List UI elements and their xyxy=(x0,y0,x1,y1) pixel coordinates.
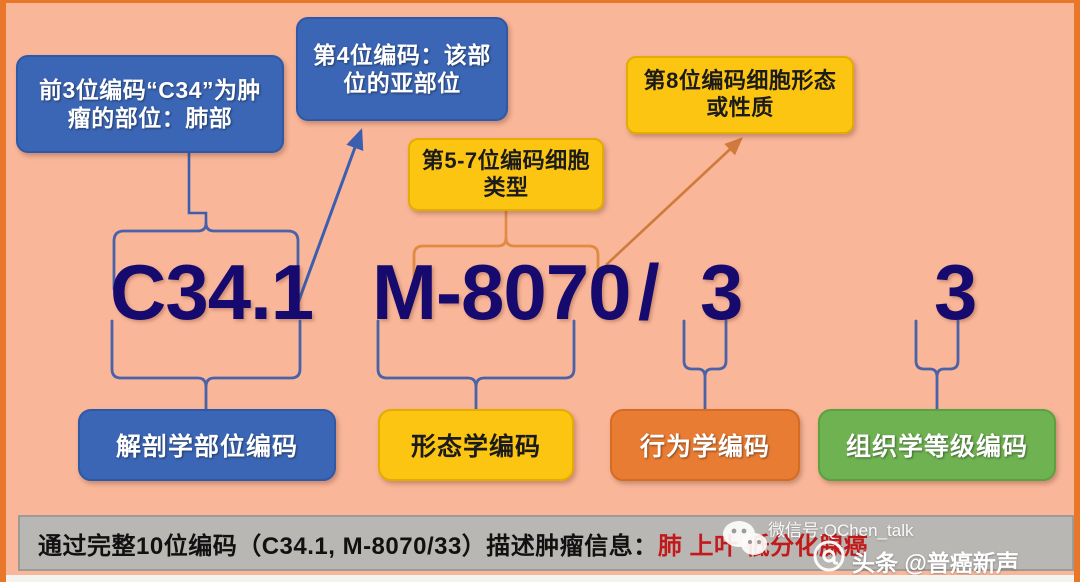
callout-site-3digit[interactable]: 前3位编码“C34”为肿瘤的部位：肺部 xyxy=(16,55,284,153)
bottom-strip xyxy=(6,575,1080,582)
diagram-canvas: 前3位编码“C34”为肿瘤的部位：肺部 第4位编码：该部位的亚部位 第5-7位编… xyxy=(0,0,1080,582)
callout-cell-type-5-7-label: 第5-7位编码细胞类型 xyxy=(420,148,592,202)
bottom-box-behavior[interactable]: 行为学编码 xyxy=(610,409,800,481)
bottom-box-grade-label: 组织学等级编码 xyxy=(846,427,1028,463)
code-grade: 3 xyxy=(934,253,976,331)
bottom-box-morphology[interactable]: 形态学编码 xyxy=(378,409,574,481)
callout-cell-type-5-7[interactable]: 第5-7位编码细胞类型 xyxy=(408,138,604,211)
bottom-box-behavior-label: 行为学编码 xyxy=(640,427,770,463)
callout-sub-site-4th[interactable]: 第4位编码：该部位的亚部位 xyxy=(296,17,508,121)
bottom-box-grade[interactable]: 组织学等级编码 xyxy=(818,409,1056,481)
watermark-toutiao: 头条 @普癌新声 xyxy=(852,544,1019,578)
at-sign-icon xyxy=(812,539,846,573)
bottom-box-anatomy[interactable]: 解剖学部位编码 xyxy=(78,409,336,481)
code-slash: / xyxy=(638,253,659,331)
code-site: C34.1 xyxy=(110,253,313,331)
summary-prefix: 通过完整10位编码（C34.1, M-8070/33）描述肿瘤信息： xyxy=(38,533,658,560)
leader-site-box xyxy=(189,153,206,227)
bottom-box-morphology-label: 形态学编码 xyxy=(411,427,541,463)
callout-cell-morph-8th-label: 第8位编码细胞形态或性质 xyxy=(638,68,842,122)
code-morphology: M-8070 xyxy=(372,253,630,331)
callout-sub-site-4th-label: 第4位编码：该部位的亚部位 xyxy=(308,41,496,97)
callout-site-3digit-label: 前3位编码“C34”为肿瘤的部位：肺部 xyxy=(28,76,272,132)
callout-cell-morph-8th[interactable]: 第8位编码细胞形态或性质 xyxy=(626,56,854,134)
watermark-wechat: 微信号:QChen_talk xyxy=(768,516,914,541)
arrow-cell-morph xyxy=(606,139,741,265)
bottom-box-anatomy-label: 解剖学部位编码 xyxy=(116,427,298,463)
code-behavior: 3 xyxy=(700,253,742,331)
wechat-icon xyxy=(722,518,768,558)
